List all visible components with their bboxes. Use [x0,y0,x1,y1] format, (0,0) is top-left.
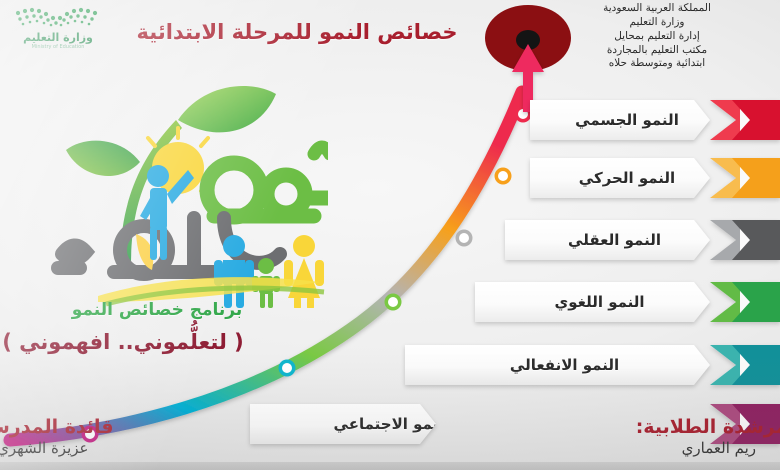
student-counselor-block: المرشدة الطلابية: ريم العماري [636,417,780,458]
stage-label-emotional: النمو الانفعالي [510,356,619,374]
stage-label-linguistic: النمو اللغوي [554,293,644,311]
page-title: خصائص النمو للمرحلة الابتدائية [132,20,462,44]
gov-header-line-1: المملكة العربية السعودية [542,2,772,16]
banner-chevron-physical [710,100,780,140]
stage-label-mental: النمو العقلي [568,231,661,249]
gov-header-line-3: إدارة التعليم بمحايل [542,30,772,44]
banner-chevron-emotional [710,345,780,385]
banner-chevron-motor [710,158,780,198]
counselor-name: ريم العماري [636,439,780,459]
ministry-of-education-logo: وزارة التعليم Ministry of Education [8,4,104,52]
school-principal-block: قائدة المدرسة: عزيزة الشهري [0,417,114,458]
banner-chevron-mental [710,220,780,260]
banner-chevron-linguistic [710,282,780,322]
banner-body-motor: النمو الحركي [530,158,710,198]
stage-label-physical: النمو الجسمي [575,111,679,129]
stage-banner-motor[interactable]: النمو الحركي [530,158,780,198]
government-header: المملكة العربية السعودية وزارة التعليم إ… [542,2,772,71]
stage-banner-emotional[interactable]: النمو الانفعالي [405,345,780,385]
counselor-role-label: المرشدة الطلابية: [636,417,780,439]
numuw-namaa-logo [28,58,328,308]
stage-banner-physical[interactable]: النمو الجسمي [530,100,780,140]
program-name: برنامج خصائص النمو [22,300,292,320]
stage-label-motor: النمو الحركي [579,169,675,187]
gov-header-line-4: مكتب التعليم بالمجاردة [542,44,772,58]
principal-role-label: قائدة المدرسة: [0,417,114,439]
banner-body-linguistic: النمو اللغوي [475,282,710,322]
banner-body-physical: النمو الجسمي [530,100,710,140]
ministry-logo-word-ar: وزارة التعليم [12,32,104,43]
banner-body-mental: النمو العقلي [505,220,710,260]
gov-header-line-2: وزارة التعليم [542,16,772,30]
bottom-strip [0,462,780,470]
program-slogan: ( لتعلُّموني.. افهموني ) [0,330,258,354]
ministry-logo-word-en: Ministry of Education [12,44,104,50]
stage-banner-linguistic[interactable]: النمو اللغوي [475,282,780,322]
gov-header-line-5: ابتدائية ومتوسطة حلاه [542,57,772,71]
stage-label-social: النمو الاجتماعي [334,415,450,433]
stage-banner-mental[interactable]: النمو العقلي [505,220,780,260]
banner-body-emotional: النمو الانفعالي [405,345,710,385]
infographic-poster: وزارة التعليم Ministry of Education المم… [0,0,780,470]
principal-name: عزيزة الشهري [0,439,114,459]
